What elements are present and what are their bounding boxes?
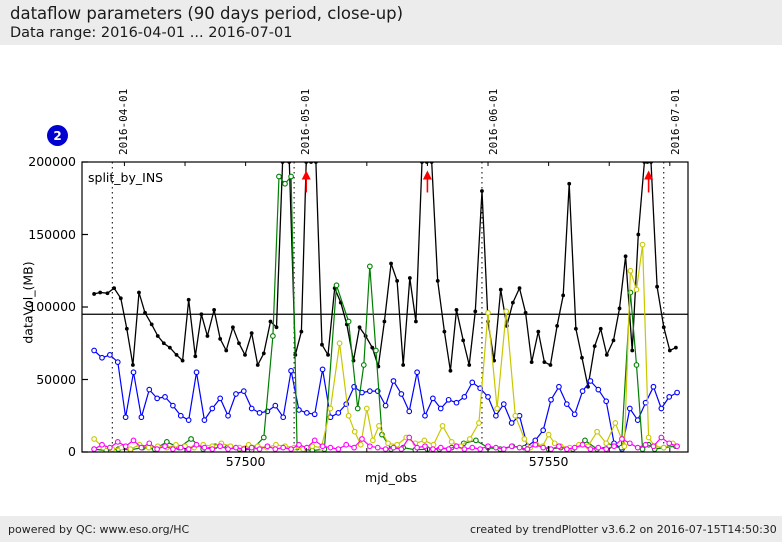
y-tick-label-4: 200000 (4, 154, 76, 169)
x-tick-label-1: 57550 (509, 454, 589, 469)
y-tick-label-0: 0 (4, 444, 76, 459)
date-marker-label-0: 2016-04-01 (117, 89, 130, 155)
y-tick-label-3: 150000 (4, 227, 76, 242)
x-tick-label-0: 57500 (206, 454, 286, 469)
date-marker-label-1: 2016-05-01 (299, 89, 312, 155)
y-tick-label-2: 100000 (4, 299, 76, 314)
split-by-ins-label: split_by_INS (88, 170, 163, 185)
x-axis-label: mjd_obs (0, 470, 782, 485)
chart-canvas (0, 0, 782, 542)
y-tick-label-1: 50000 (4, 372, 76, 387)
date-marker-label-3: 2016-07-01 (669, 89, 682, 155)
date-marker-label-2: 2016-06-01 (487, 89, 500, 155)
footer-credit-right: created by trendPlotter v3.6.2 on 2016-0… (470, 523, 777, 536)
footer-credit-left: powered by QC: www.eso.org/HC (8, 523, 189, 536)
screenshot-root: dataflow parameters (90 days period, clo… (0, 0, 782, 542)
